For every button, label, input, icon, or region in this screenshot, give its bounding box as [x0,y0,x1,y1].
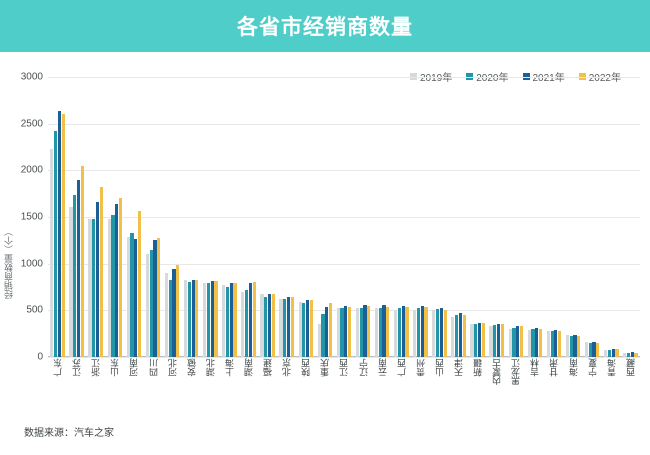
bar-group [564,77,583,357]
bar[interactable] [172,269,175,357]
bar[interactable] [627,353,630,357]
x-axis-label-cell: 湖南 [239,359,258,419]
bar[interactable] [382,305,385,357]
bar[interactable] [440,308,443,357]
bar[interactable] [402,306,405,357]
bar[interactable] [150,250,153,357]
x-axis-tick-label: 山东 [108,359,121,376]
x-axis-label-cell: 北京 [277,359,296,419]
bar[interactable] [363,305,366,357]
x-axis-tick-label: 河南 [127,359,140,376]
bar[interactable] [405,307,408,357]
bar-group [124,77,143,357]
x-axis-tick-label: 甘肃 [547,359,560,376]
bar[interactable] [138,211,141,357]
bar-group [621,77,640,357]
bar[interactable] [88,219,91,357]
bar-group [201,77,220,357]
x-axis-tick-label: 江苏 [70,359,83,376]
bar[interactable] [589,343,592,357]
bar[interactable] [134,239,137,357]
bar[interactable] [253,282,256,357]
bar[interactable] [272,294,275,357]
bar[interactable] [623,353,626,357]
bar[interactable] [195,280,198,357]
x-axis-label-cell: 河北 [163,359,182,419]
x-axis-tick-label: 青海 [605,359,618,376]
bar[interactable] [573,335,576,357]
bar-group [296,77,315,357]
bar[interactable] [482,323,485,357]
bar[interactable] [299,302,302,357]
bar[interactable] [169,280,172,357]
x-axis-tick-label: 河北 [166,359,179,376]
bar[interactable] [207,283,210,357]
x-axis-tick-label: 湖北 [204,359,217,376]
bar[interactable] [73,195,76,357]
x-axis-label-cell: 山西 [430,359,449,419]
bar[interactable] [551,331,554,357]
bar[interactable] [321,314,324,357]
bar[interactable] [233,283,236,357]
x-axis-tick-label: 浙江 [89,359,102,376]
bar-group [86,77,105,357]
x-axis-label-cell: 江西 [334,359,353,419]
bar[interactable] [344,306,347,357]
bar[interactable] [493,325,496,357]
bar-group [373,77,392,357]
x-axis-label-cell: 内蒙古 [487,359,506,419]
bar[interactable] [241,292,244,357]
bar[interactable] [111,215,114,357]
y-axis-tick-label: 1500 [21,212,43,223]
bar[interactable] [176,265,179,357]
bar[interactable] [268,294,271,357]
y-axis-title: 经销商数量（个） [2,227,16,299]
x-axis-tick-label: 西藏 [624,359,637,376]
bar[interactable] [516,326,519,357]
bar[interactable] [203,283,206,357]
bar[interactable] [184,280,187,357]
x-axis-label-cell: 浙江 [86,359,105,419]
bar[interactable] [108,219,111,357]
bar[interactable] [306,300,309,357]
bar[interactable] [608,350,611,357]
x-axis-label-cell: 广东 [48,359,67,419]
bar[interactable] [367,306,370,357]
bar[interactable] [509,329,512,357]
bar[interactable] [146,254,149,357]
y-axis-tick-label: 2500 [21,118,43,129]
bar-group [67,77,86,357]
x-axis-tick-label: 云南 [376,359,389,376]
x-axis-tick-label: 福建 [261,359,274,376]
bar-group [182,77,201,357]
bar[interactable] [58,111,61,357]
bar[interactable] [54,131,57,357]
bar[interactable] [157,238,160,357]
bar[interactable] [81,166,84,357]
bar[interactable] [115,204,118,357]
bar[interactable] [421,306,424,357]
bar[interactable] [386,307,389,357]
bar-group [105,77,124,357]
bar-group [239,77,258,357]
x-axis-label-cell: 江苏 [67,359,86,419]
bar[interactable] [356,308,359,357]
bar[interactable] [287,297,290,357]
x-axis-tick-label: 黑龙江 [509,359,522,385]
bar-group [258,77,277,357]
bar[interactable] [245,290,248,357]
bar-groups [48,77,640,357]
bar[interactable] [329,303,332,357]
x-axis-label-cell: 福建 [258,359,277,419]
bar[interactable] [554,330,557,357]
bar[interactable] [50,149,53,357]
x-axis-label-cell: 广西 [392,359,411,419]
page-title: 各省市经销商数量 [237,11,413,41]
bar[interactable] [379,308,382,357]
x-axis-label-cell: 天津 [449,359,468,419]
bar[interactable] [631,352,634,357]
bar[interactable] [325,307,328,357]
bar-group [487,77,506,357]
x-axis-tick-label: 重庆 [318,359,331,376]
x-axis-label-cell: 河南 [124,359,143,419]
bar-group [449,77,468,357]
bar[interactable] [413,310,416,357]
bar[interactable] [188,282,191,357]
bar-group [583,77,602,357]
bar[interactable] [96,202,99,357]
bar-group [544,77,563,357]
bar[interactable] [192,280,195,357]
x-axis-label-cell: 黑龙江 [506,359,525,419]
bar[interactable] [130,233,133,357]
bar[interactable] [279,299,282,357]
bar[interactable] [432,310,435,357]
bar[interactable] [570,336,573,357]
bar[interactable] [451,317,454,357]
x-axis-tick-label: 山西 [433,359,446,376]
bar[interactable] [398,308,401,357]
bar[interactable] [520,326,523,357]
x-axis-label-cell: 西藏 [621,359,640,419]
bar-group [468,77,487,357]
bar[interactable] [474,324,477,357]
x-axis-tick-label: 内蒙古 [490,359,503,385]
y-axis-tick-label: 1000 [21,258,43,269]
bar[interactable] [264,297,267,357]
y-axis-tick-label: 3000 [21,72,43,83]
bar[interactable] [436,309,439,357]
x-axis-tick-label: 新疆 [471,359,484,376]
gridline [48,357,640,358]
bar[interactable] [62,114,65,357]
x-axis-label-cell: 辽宁 [354,359,373,419]
chart-canvas: 2019年2020年2021年2022年 经销商数量（个） 0500100015… [0,52,650,455]
bar[interactable] [596,343,599,357]
bar[interactable] [302,303,305,357]
bar[interactable] [478,323,481,357]
bar-group [277,77,296,357]
bar-group [430,77,449,357]
bar[interactable] [424,307,427,357]
x-axis-label-cell: 云南 [373,359,392,419]
x-axis-label-cell: 陕西 [296,359,315,419]
bar[interactable] [577,336,580,357]
bar-group [143,77,162,357]
x-axis-tick-label: 安徽 [185,359,198,376]
bar[interactable] [69,207,72,357]
bar[interactable] [127,237,130,357]
x-axis-tick-label: 宁夏 [586,359,599,376]
bar[interactable] [459,313,462,357]
bar[interactable] [310,300,313,357]
bar[interactable] [260,294,263,357]
bar[interactable] [249,283,252,357]
x-axis-tick-label: 广东 [51,359,64,376]
bar[interactable] [283,299,286,357]
y-axis-tick-label: 500 [26,305,43,316]
bar-group [525,77,544,357]
bar[interactable] [501,324,504,357]
x-axis-label-cell: 上海 [220,359,239,419]
x-axis-label-cell: 四川 [143,359,162,419]
bar[interactable] [604,350,607,357]
bar[interactable] [230,283,233,357]
bar[interactable] [566,335,569,357]
bar[interactable] [615,349,618,357]
x-axis-label-cell: 新疆 [468,359,487,419]
bar-group [602,77,621,357]
bar[interactable] [119,198,122,357]
bar-group [354,77,373,357]
x-axis-tick-label: 海南 [567,359,580,376]
chart-header-bar: 各省市经销商数量 [0,0,650,52]
bar[interactable] [340,308,343,357]
bar[interactable] [512,328,515,357]
bar-group [334,77,353,357]
bar[interactable] [634,353,637,357]
bar[interactable] [612,349,615,357]
bar[interactable] [291,297,294,357]
bar[interactable] [77,180,80,357]
bar[interactable] [211,281,214,357]
x-axis-tick-label: 陕西 [299,359,312,376]
source-note: 数据来源：汽车之家 [24,424,114,439]
bar[interactable] [547,331,550,357]
bar[interactable] [318,324,321,357]
bar[interactable] [375,308,378,357]
bar[interactable] [470,324,473,357]
x-axis-label-cell: 湖北 [201,359,220,419]
bar[interactable] [226,287,229,357]
bar[interactable] [165,273,168,357]
x-axis-tick-label: 广西 [395,359,408,376]
bar[interactable] [531,329,534,357]
y-axis-tick-label: 2000 [21,165,43,176]
bar-group [315,77,334,357]
bar[interactable] [558,331,561,357]
x-axis-tick-label: 天津 [452,359,465,376]
bar[interactable] [455,315,458,357]
x-axis-label-cell: 宁夏 [583,359,602,419]
x-axis-label-cell: 贵州 [411,359,430,419]
bar-group [411,77,430,357]
bar[interactable] [417,308,420,357]
bar-group [48,77,67,357]
bar[interactable] [100,187,103,357]
x-axis-label-cell: 山东 [105,359,124,419]
bar[interactable] [497,324,500,357]
bar[interactable] [92,219,95,357]
bar[interactable] [214,281,217,357]
x-axis-label-cell: 安徽 [182,359,201,419]
bar-group [506,77,525,357]
bar[interactable] [535,328,538,357]
bar[interactable] [585,342,588,357]
x-axis-label-cell: 重庆 [315,359,334,419]
bar[interactable] [394,310,397,357]
x-axis-tick-label: 湖南 [242,359,255,376]
bar[interactable] [528,330,531,357]
bar-group [220,77,239,357]
bar[interactable] [539,329,542,357]
bar[interactable] [463,315,466,357]
x-axis-label-cell: 吉林 [525,359,544,419]
bar-group [163,77,182,357]
bar[interactable] [337,308,340,357]
plot-area: 050010001500200025003000 [48,77,640,357]
y-axis-tick-label: 0 [37,352,43,363]
x-axis-tick-label: 上海 [223,359,236,376]
x-axis-label-cell: 海南 [564,359,583,419]
x-axis-tick-label: 四川 [147,359,160,376]
x-axis-tick-label: 贵州 [414,359,427,376]
x-axis-label-cell: 甘肃 [544,359,563,419]
bar[interactable] [592,342,595,357]
bar[interactable] [444,310,447,357]
x-axis-tick-label: 江西 [337,359,350,376]
bar-group [392,77,411,357]
bar[interactable] [348,307,351,357]
bar[interactable] [153,240,156,357]
x-axis-tick-label: 辽宁 [357,359,370,376]
bar[interactable] [489,326,492,357]
x-axis-label-cell: 青海 [602,359,621,419]
x-axis-tick-label: 吉林 [528,359,541,376]
bar[interactable] [222,285,225,357]
x-axis-tick-label: 北京 [280,359,293,376]
bar[interactable] [360,308,363,357]
x-axis-labels: 广东江苏浙江山东河南四川河北安徽湖北上海湖南福建北京陕西重庆江西辽宁云南广西贵州… [48,359,640,419]
